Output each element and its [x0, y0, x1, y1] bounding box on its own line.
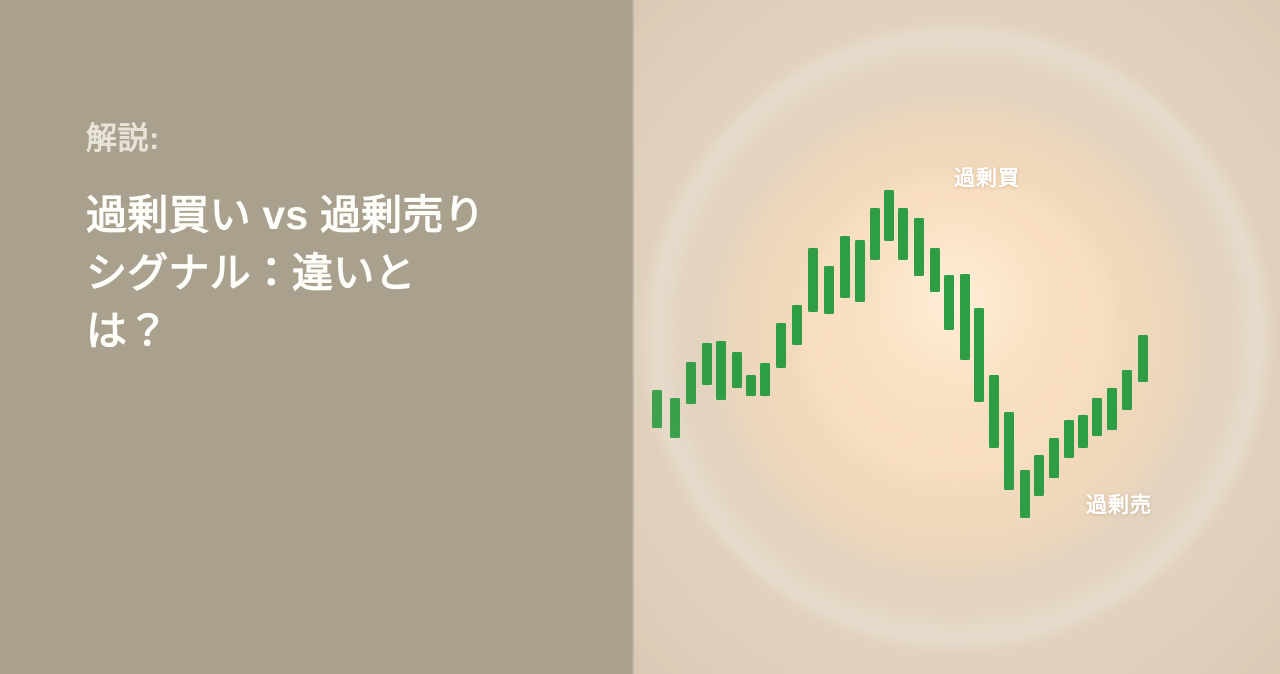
- candle-bar: [930, 248, 940, 292]
- page-title-line-3: は？: [86, 302, 586, 360]
- eyebrow-label: 解説:: [86, 118, 634, 160]
- candle-bar: [746, 375, 756, 396]
- candlestick-chart: [634, 0, 1280, 674]
- candle-bar: [652, 390, 662, 428]
- page-title: 過剰買い vs 過剰売り シグナル：違いと は？: [86, 186, 586, 361]
- candle-bar: [1020, 470, 1030, 518]
- overbought-annotation: 過剰買: [954, 162, 1020, 192]
- candle-bar: [960, 274, 970, 360]
- candle-bar: [776, 323, 786, 368]
- left-text-panel: 解説: 過剰買い vs 過剰売り シグナル：違いと は？: [0, 0, 634, 674]
- oversold-annotation: 過剰売: [1086, 489, 1152, 519]
- right-chart-panel: 過剰買 過剰売: [634, 0, 1280, 674]
- candle-bar: [944, 275, 954, 330]
- candle-bar: [898, 208, 908, 260]
- candle-bar: [702, 343, 712, 385]
- candle-bar: [1064, 420, 1074, 458]
- candle-bar: [989, 375, 999, 448]
- candle-bar: [1107, 388, 1117, 430]
- candle-bar: [1078, 415, 1088, 448]
- candle-bar: [884, 190, 894, 241]
- candle-bar: [1138, 335, 1148, 382]
- candle-bar: [855, 240, 865, 302]
- candle-bar: [1004, 412, 1014, 490]
- candle-bar: [974, 308, 984, 402]
- candle-series: [652, 190, 1148, 518]
- candle-bar: [716, 341, 726, 400]
- candle-bar: [760, 363, 770, 396]
- candle-bar: [840, 236, 850, 298]
- candle-bar: [824, 266, 834, 314]
- candle-bar: [732, 352, 742, 388]
- candle-bar: [914, 218, 924, 276]
- candle-bar: [870, 208, 880, 260]
- candle-bar: [686, 362, 696, 404]
- page-title-line-1: 過剰買い vs 過剰売り: [86, 186, 586, 244]
- candle-bar: [808, 248, 818, 312]
- poster-root: 解説: 過剰買い vs 過剰売り シグナル：違いと は？ 過剰買 過剰売: [0, 0, 1280, 674]
- candle-bar: [1049, 438, 1059, 478]
- candle-bar: [1092, 398, 1102, 436]
- page-title-line-2: シグナル：違いと: [86, 244, 586, 302]
- candle-bar: [1122, 370, 1132, 410]
- candle-bar: [670, 398, 680, 438]
- candle-bar: [792, 305, 802, 345]
- candle-bar: [1034, 455, 1044, 496]
